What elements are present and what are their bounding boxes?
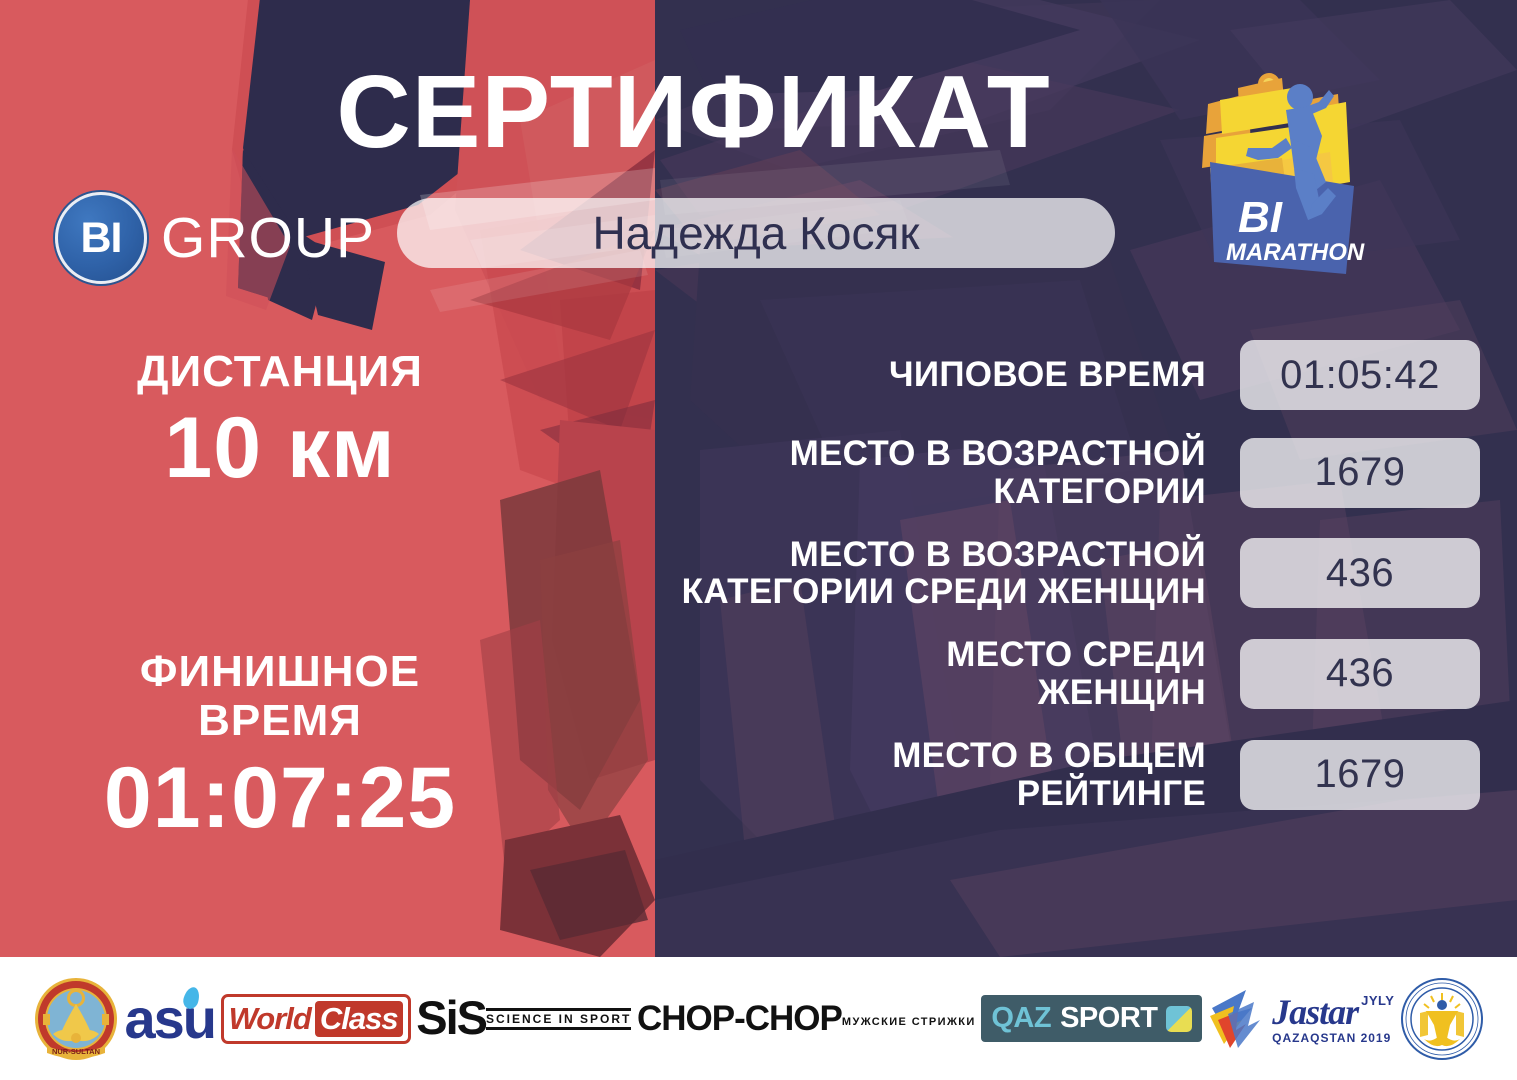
bi-group-logo: BI GROUP <box>55 192 375 284</box>
stat-value: 436 <box>1326 551 1394 596</box>
stat-label: МЕСТО В ВОЗРАСТНОЙ КАТЕГОРИИ <box>520 435 1240 511</box>
jastar-arrow-icon <box>1208 986 1266 1052</box>
stat-value-pill: 436 <box>1240 639 1480 709</box>
bi-marathon-logo: BI MARATHON <box>1186 64 1386 304</box>
bi-group-mark: BI <box>81 217 122 260</box>
sponsor-qazsport: QAZ SPORT <box>981 995 1202 1042</box>
certificate-root: СЕРТИФИКАТ BI GROUP Надежда Косяк <box>0 0 1517 1080</box>
sponsor-world-class: World Class <box>221 994 411 1044</box>
bi-marathon-line1: BI <box>1238 193 1283 242</box>
sponsor-world-class-text2: Class <box>315 1001 403 1037</box>
sponsor-jastar-text: Jastar <box>1272 994 1358 1030</box>
participant-name: Надежда Косяк <box>592 206 919 260</box>
distance-label: ДИСТАНЦИЯ <box>40 347 520 396</box>
stat-row: МЕСТО СРЕДИ ЖЕНЩИН 436 <box>520 636 1480 712</box>
bi-group-word: GROUP <box>161 205 375 271</box>
sponsor-sis-text: SiS <box>416 996 486 1041</box>
bi-group-badge-icon: BI <box>55 192 147 284</box>
stat-value-pill: 1679 <box>1240 438 1480 508</box>
sponsor-nur-sultan-text: NUR-SULTAN <box>52 1047 100 1056</box>
stat-value: 436 <box>1326 651 1394 696</box>
stats-list: ЧИПОВОЕ ВРЕМЯ 01:05:42 МЕСТО В ВОЗРАСТНО… <box>520 340 1480 837</box>
sponsor-jastar: Jastar JYLY QAZAQSTAN 2019 <box>1208 986 1394 1052</box>
stat-label: МЕСТО СРЕДИ ЖЕНЩИН <box>520 636 1240 712</box>
stat-value-pill: 1679 <box>1240 740 1480 810</box>
finish-time-value: 01:07:25 <box>40 750 520 846</box>
sponsor-jastar-sub: QAZAQSTAN 2019 <box>1272 1032 1394 1044</box>
sponsor-bar: NUR-SULTAN asu World Class SiS SCIENCE I… <box>0 957 1517 1080</box>
finish-time-label: ФИНИШНОЕ ВРЕМЯ <box>40 647 520 746</box>
distance-block: ДИСТАНЦИЯ 10 км <box>40 347 520 497</box>
stat-label: ЧИПОВОЕ ВРЕМЯ <box>520 356 1240 394</box>
stat-label: МЕСТО В ВОЗРАСТНОЙ КАТЕГОРИИ СРЕДИ ЖЕНЩИ… <box>520 536 1240 612</box>
stat-label: МЕСТО В ОБЩЕМ РЕЙТИНГЕ <box>520 737 1240 813</box>
distance-value: 10 км <box>40 400 520 496</box>
stat-value-pill: 436 <box>1240 538 1480 608</box>
sponsor-sis: SiS SCIENCE IN SPORT <box>416 996 631 1041</box>
stat-row: МЕСТО В ОБЩЕМ РЕЙТИНГЕ 1679 <box>520 737 1480 813</box>
stat-row: ЧИПОВОЕ ВРЕМЯ 01:05:42 <box>520 340 1480 410</box>
sponsor-world-class-text1: World <box>229 1001 311 1037</box>
stat-value-pill: 01:05:42 <box>1240 340 1480 410</box>
sponsor-chop-chop-text: CHOP-CHOP <box>637 1001 842 1036</box>
stat-value: 1679 <box>1315 752 1406 797</box>
sponsor-asu: asu <box>124 991 215 1047</box>
stat-row: МЕСТО В ВОЗРАСТНОЙ КАТЕГОРИИ СРЕДИ ЖЕНЩИ… <box>520 536 1480 612</box>
sponsor-chop-chop-sub: МУЖСКИЕ СТРИЖКИ <box>842 1016 976 1028</box>
sponsor-asu-text: asu <box>124 991 215 1047</box>
qazsport-square-icon <box>1166 1006 1192 1032</box>
stat-row: МЕСТО В ВОЗРАСТНОЙ КАТЕГОРИИ 1679 <box>520 435 1480 511</box>
sponsor-sis-sub: SCIENCE IN SPORT <box>486 1008 631 1030</box>
stat-value: 01:05:42 <box>1280 353 1440 398</box>
sponsor-chop-chop: CHOP-CHOP МУЖСКИЕ СТРИЖКИ <box>637 1001 976 1036</box>
sponsor-ministry-emblem <box>1400 977 1484 1061</box>
bi-marathon-line2: MARATHON <box>1226 239 1365 266</box>
participant-name-pill: Надежда Косяк <box>397 198 1115 268</box>
stat-value: 1679 <box>1315 450 1406 495</box>
sponsor-qazsport-text1: QAZ <box>991 1002 1051 1035</box>
sponsor-qazsport-text2: SPORT <box>1060 1002 1157 1035</box>
sponsor-nur-sultan-emblem: NUR-SULTAN <box>33 976 119 1062</box>
sponsor-jastar-sup: JYLY <box>1361 994 1394 1007</box>
finish-time-block: ФИНИШНОЕ ВРЕМЯ 01:07:25 <box>40 647 520 846</box>
